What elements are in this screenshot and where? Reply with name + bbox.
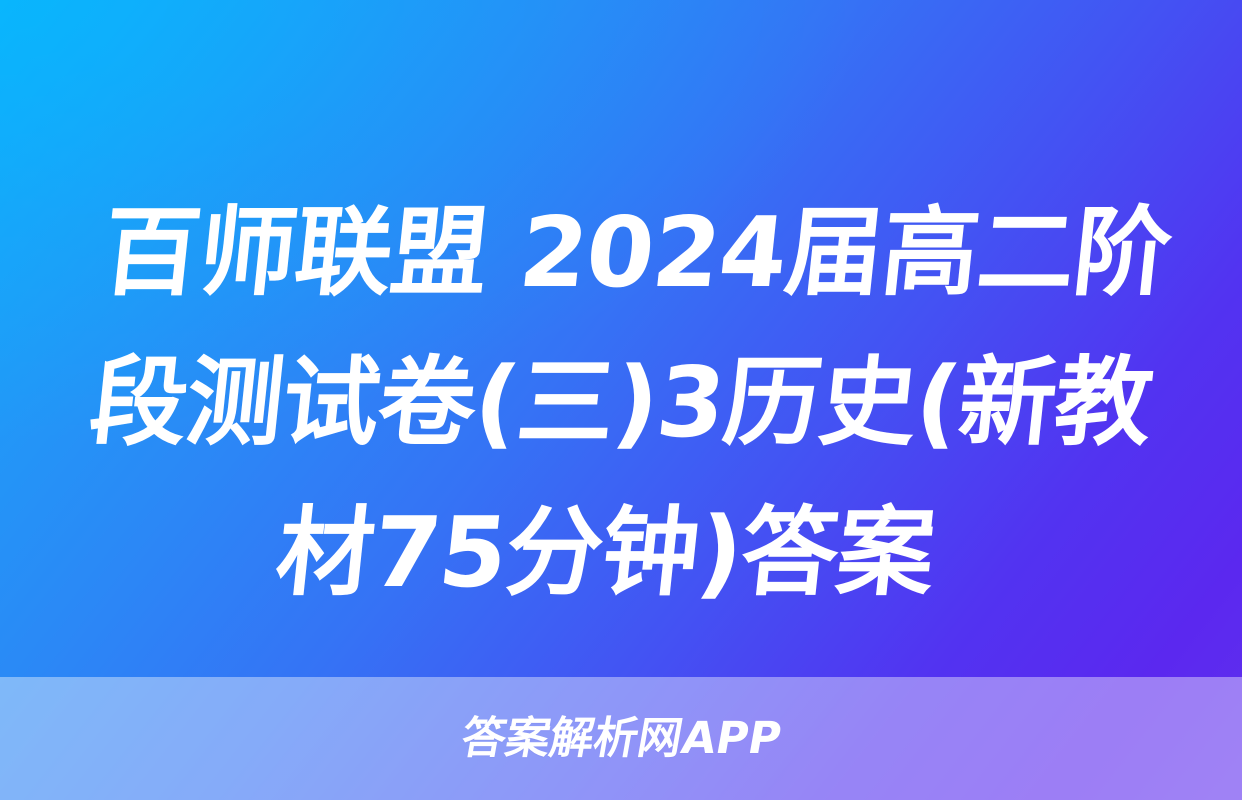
poster-canvas: 百师联盟 2024届高二阶 段测试卷(三)3历史(新教 材75分钟)答案 答案解… <box>0 0 1242 800</box>
app-watermark-label: 答案解析网APP <box>458 717 784 761</box>
hero-section: 百师联盟 2024届高二阶 段测试卷(三)3历史(新教 材75分钟)答案 <box>0 178 1242 628</box>
page-title: 百师联盟 2024届高二阶 段测试卷(三)3历史(新教 材75分钟)答案 <box>28 178 1213 628</box>
watermark-band: 答案解析网APP <box>0 677 1242 800</box>
